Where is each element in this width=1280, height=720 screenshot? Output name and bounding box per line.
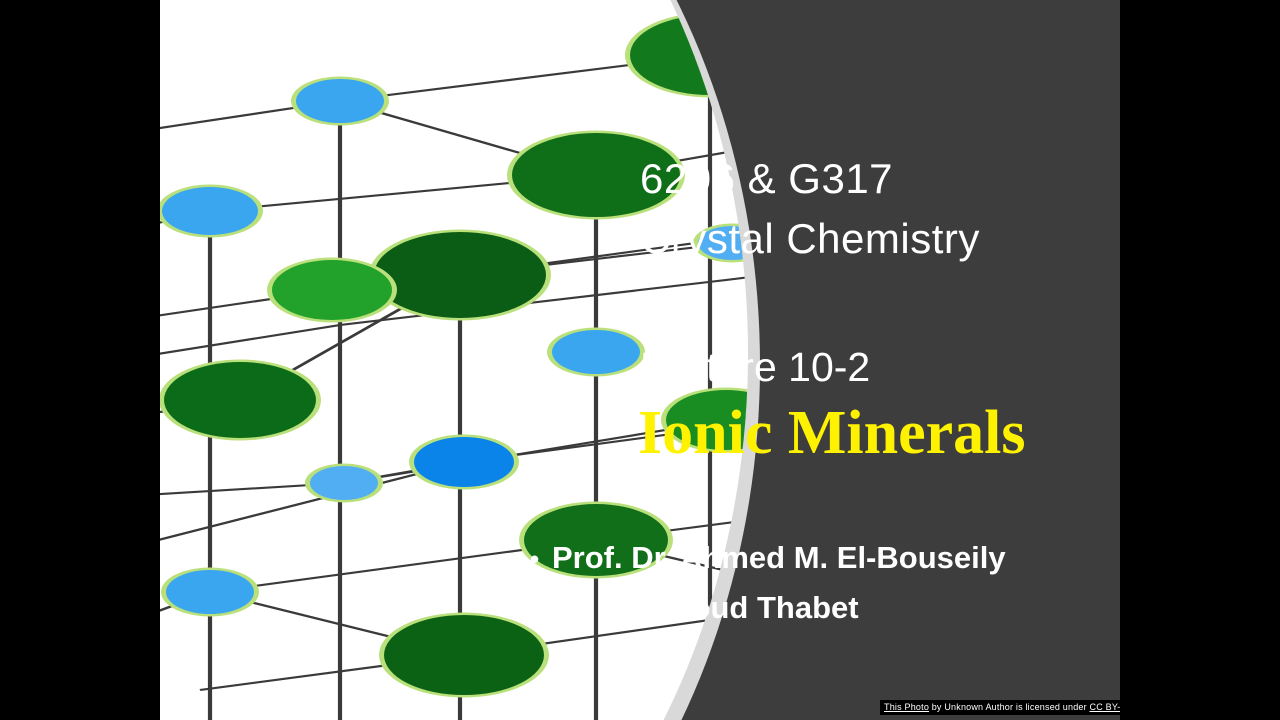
author-name: Prof. Dr. Ahmed M. El-Bouseily bbox=[552, 540, 1006, 576]
slide-root: 6206 & G317 Crystal Chemistry Lecture 10… bbox=[0, 0, 1280, 720]
attribution-link-license[interactable]: CC BY-SA bbox=[1090, 702, 1120, 712]
lecture-number: Lecture 10-2 bbox=[640, 344, 870, 391]
photo-attribution: This Photo by Unknown Author is licensed… bbox=[880, 700, 1120, 715]
letterbox-left bbox=[0, 0, 160, 720]
bullet-icon: • bbox=[530, 546, 552, 572]
attribution-middle-text: by Unknown Author is licensed under bbox=[929, 702, 1090, 712]
attribution-link-photo[interactable]: This Photo bbox=[884, 702, 929, 712]
bullet-icon: • bbox=[530, 596, 552, 622]
list-item: • Dr. Mahmoud Thabet bbox=[530, 590, 1110, 626]
slide-stage: 6206 & G317 Crystal Chemistry Lecture 10… bbox=[160, 0, 1120, 720]
lecture-title: Ionic Minerals bbox=[638, 398, 1025, 469]
course-code: 6206 & G317 bbox=[640, 155, 893, 203]
list-item: • Prof. Dr. Ahmed M. El-Bouseily bbox=[530, 540, 1110, 576]
author-list: • Prof. Dr. Ahmed M. El-Bouseily • Dr. M… bbox=[530, 540, 1110, 640]
author-name: Dr. Mahmoud Thabet bbox=[552, 590, 859, 626]
letterbox-right bbox=[1120, 0, 1280, 720]
course-name: Crystal Chemistry bbox=[640, 215, 980, 263]
title-text-panel: 6206 & G317 Crystal Chemistry Lecture 10… bbox=[160, 0, 1120, 720]
